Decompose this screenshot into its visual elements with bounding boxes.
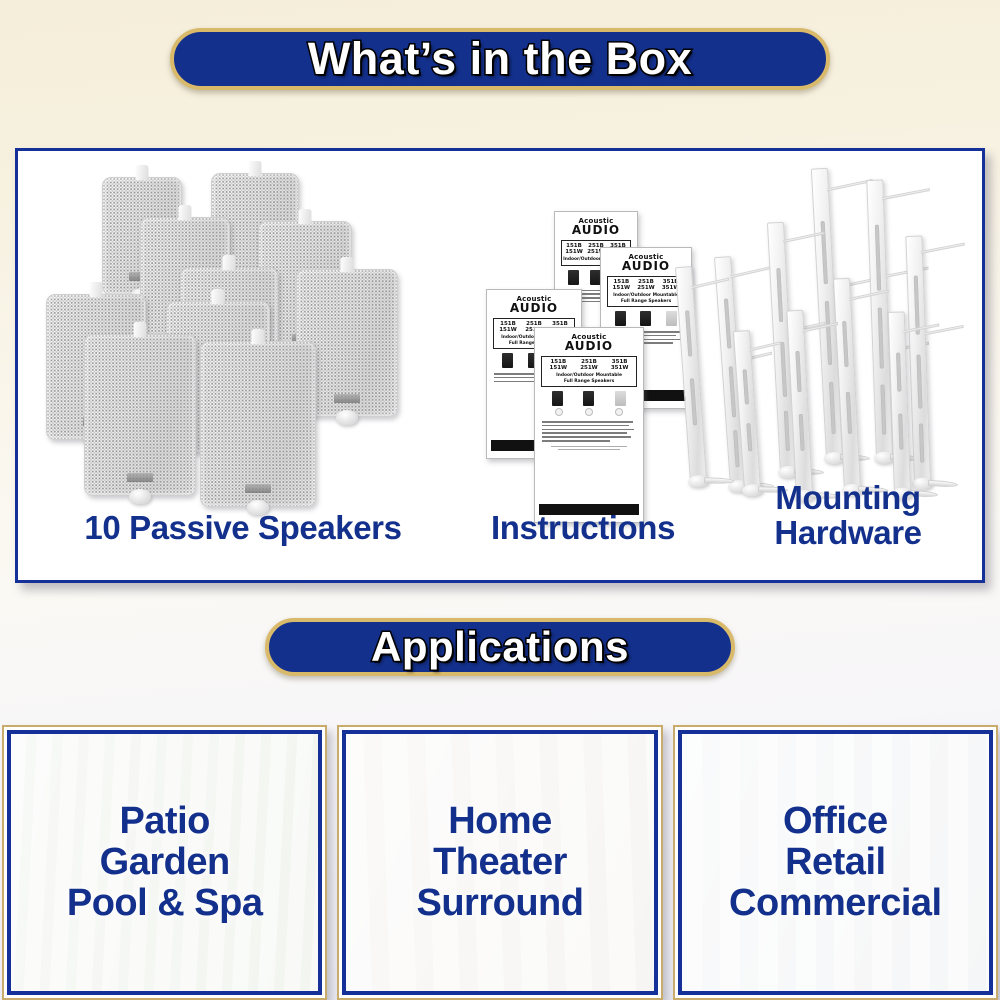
manual-model: 351W: [611, 365, 629, 371]
whats-in-box-panel: 10 Passive Speakers Acoustic AUDIO 151B2…: [15, 148, 985, 583]
manual-brand-line2: AUDIO: [559, 224, 633, 236]
application-card-outdoor[interactable]: Patio Garden Pool & Spa: [2, 725, 327, 1000]
whats-in-box-banner: What’s in the Box: [170, 28, 830, 90]
application-card-home[interactable]: Home Theater Surround: [337, 725, 662, 1000]
whats-in-box-banner-label: What’s in the Box: [308, 33, 692, 85]
manual-subtitle: Full Range Speakers: [564, 379, 614, 384]
application-card-title: Home Theater Surround: [417, 801, 584, 924]
mounting-hardware-group: Mounting Hardware: [718, 159, 980, 559]
bracket-icon: [888, 310, 944, 494]
application-cards-row: Patio Garden Pool & Spa Home Theater Sur…: [0, 725, 1000, 1000]
manual-icon: Acoustic AUDIO 151B251B351B 151W251W351W…: [534, 327, 644, 523]
manual-brand-line2: AUDIO: [539, 340, 639, 352]
whats-in-box-banner-row: What’s in the Box: [0, 0, 1000, 90]
applications-banner-row: Applications: [0, 600, 1000, 676]
application-card-commercial[interactable]: Office Retail Commercial: [673, 725, 998, 1000]
manual-model: 151W: [550, 365, 568, 371]
applications-banner-label: Applications: [371, 623, 629, 671]
instructions-group: Acoustic AUDIO 151B251B351B 151W251W351W…: [458, 159, 708, 559]
manual-model: 251W: [580, 365, 598, 371]
application-card-title: Office Retail Commercial: [729, 801, 942, 924]
mounting-label-line2: Hardware: [774, 514, 921, 551]
application-card-title: Patio Garden Pool & Spa: [67, 801, 263, 924]
speaker-icon: [84, 334, 196, 496]
manual-subtitle: Indoor/Outdoor Mountable: [556, 373, 622, 378]
speaker-icon: [200, 341, 316, 507]
applications-banner: Applications: [265, 618, 735, 676]
mounting-hardware-group-label: Mounting Hardware: [708, 481, 988, 550]
bracket-icon: [786, 308, 846, 496]
speakers-group-label: 10 Passive Speakers: [28, 511, 458, 546]
mounting-label-line1: Mounting: [775, 479, 920, 516]
speakers-group: 10 Passive Speakers: [28, 159, 458, 559]
instructions-group-label: Instructions: [438, 511, 728, 546]
